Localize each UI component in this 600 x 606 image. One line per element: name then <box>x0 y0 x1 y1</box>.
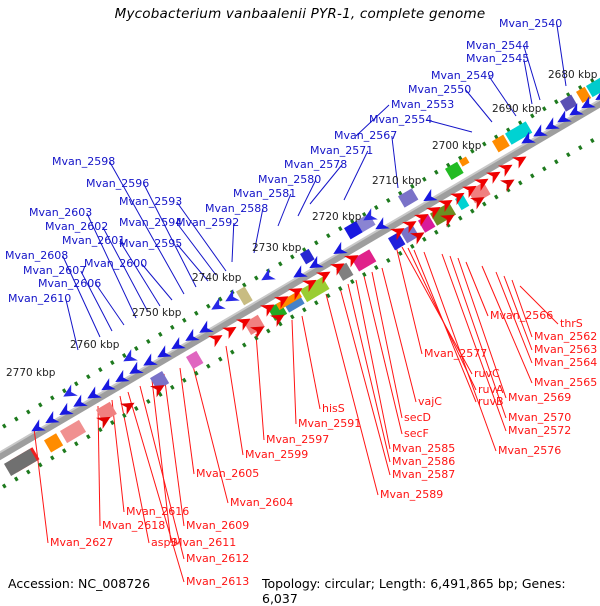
label-leader-line <box>128 392 184 582</box>
gene-label[interactable]: Mvan_2587 <box>392 469 455 480</box>
gene-label[interactable]: Mvan_2611 <box>173 537 236 548</box>
gene-label[interactable]: Mvan_2576 <box>498 445 561 456</box>
label-leader-line <box>34 428 48 543</box>
scale-tick-mark <box>542 106 547 111</box>
scale-tick-mark <box>470 209 475 214</box>
scale-tick-mark <box>194 311 199 316</box>
gene-label[interactable]: Mvan_2600 <box>84 258 147 269</box>
scale-tick-mark <box>338 226 343 231</box>
scale-tick-mark <box>122 353 127 358</box>
scale-tick-mark <box>458 216 463 221</box>
gene-feature-box[interactable] <box>44 433 63 452</box>
gene-label[interactable]: Mvan_2593 <box>119 196 182 207</box>
scale-tick-mark <box>2 424 7 429</box>
gene-label[interactable]: Mvan_2586 <box>392 456 455 467</box>
gene-label[interactable]: secD <box>404 412 431 423</box>
scale-tick-mark <box>146 339 151 344</box>
label-leader-line <box>524 59 532 104</box>
scale-tick-mark <box>134 346 139 351</box>
gene-label[interactable]: Mvan_2565 <box>534 377 597 388</box>
scale-tick-label: 2680 kbp <box>548 70 597 80</box>
gene-label[interactable]: Mvan_2608 <box>5 250 68 261</box>
gene-label[interactable]: Mvan_2599 <box>245 449 308 460</box>
scale-tick-mark <box>14 477 19 482</box>
label-leader-line <box>164 374 184 526</box>
scale-tick-mark <box>314 240 319 245</box>
scale-tick-mark <box>290 314 295 319</box>
scale-tick-label: 2740 kbp <box>192 273 241 283</box>
gene-label[interactable]: Mvan_2596 <box>86 178 149 189</box>
scale-tick-label: 2730 kbp <box>252 243 301 253</box>
scale-tick-mark <box>290 254 295 259</box>
label-leader-line <box>292 320 296 424</box>
label-leader-line <box>112 400 124 512</box>
genome-map-canvas <box>0 0 600 600</box>
scale-tick-mark <box>554 159 559 164</box>
scale-tick-mark <box>230 350 235 355</box>
gene-label[interactable]: Mvan_2567 <box>334 130 397 141</box>
gene-label[interactable]: Mvan_2609 <box>186 520 249 531</box>
scale-tick-mark <box>74 381 79 386</box>
label-leader-line <box>256 334 264 440</box>
scale-tick-mark <box>434 170 439 175</box>
gene-label[interactable]: Mvan_2601 <box>62 235 125 246</box>
gene-arrow[interactable] <box>208 297 226 315</box>
gene-arrow[interactable] <box>120 349 138 367</box>
gene-label[interactable]: Mvan_2570 <box>508 412 571 423</box>
scale-tick-mark <box>122 413 127 418</box>
scale-tick-mark <box>302 307 307 312</box>
gene-label[interactable]: Mvan_2618 <box>102 520 165 531</box>
gene-label[interactable]: Mvan_2580 <box>258 174 321 185</box>
scale-tick-mark <box>74 441 79 446</box>
label-leader-line <box>98 406 100 526</box>
label-leader-line <box>427 120 472 132</box>
gene-label[interactable]: Mvan_2597 <box>266 434 329 445</box>
scale-tick-mark <box>218 357 223 362</box>
accession-text: Accession: NC_008726 <box>8 576 150 591</box>
gene-label[interactable]: Mvan_2549 <box>431 70 494 81</box>
scale-tick-mark <box>266 328 271 333</box>
gene-label[interactable]: Mvan_2569 <box>508 392 571 403</box>
scale-tick-mark <box>2 484 7 489</box>
scale-tick-mark <box>146 399 151 404</box>
scale-tick-mark <box>62 448 67 453</box>
gene-label[interactable]: ruvA <box>478 384 504 395</box>
scale-tick-mark <box>206 304 211 309</box>
label-leader-line <box>302 316 320 409</box>
scale-tick-label: 2710 kbp <box>372 176 421 186</box>
scale-tick-mark <box>422 237 427 242</box>
gene-arrow[interactable] <box>60 384 78 402</box>
gene-label[interactable]: Mvan_2571 <box>310 145 373 156</box>
gene-label[interactable]: Mvan_2589 <box>380 489 443 500</box>
scale-tick-mark <box>482 142 487 147</box>
gene-label[interactable]: Mvan_2598 <box>52 156 115 167</box>
gene-label[interactable]: Mvan_2592 <box>176 217 239 228</box>
scale-tick-mark <box>566 152 571 157</box>
gene-label[interactable]: Mvan_2627 <box>50 537 113 548</box>
scale-tick-mark <box>326 233 331 238</box>
label-leader-line <box>226 346 243 455</box>
scale-tick-mark <box>170 325 175 330</box>
gene-label[interactable]: Mvan_2577 <box>424 348 487 359</box>
scale-tick-mark <box>86 374 91 379</box>
gene-feature-box[interactable] <box>244 315 265 335</box>
scale-tick-mark <box>26 409 31 414</box>
gene-label[interactable]: vajC <box>418 396 442 407</box>
scale-tick-mark <box>182 378 187 383</box>
scale-tick-mark <box>14 417 19 422</box>
genome-map-viewer: Mycobacterium vanbaalenii PYR-1, complet… <box>0 0 600 600</box>
gene-label[interactable]: Mvan_2544 <box>466 40 529 51</box>
scale-tick-mark <box>590 138 595 143</box>
scale-tick-mark <box>242 343 247 348</box>
scale-tick-label: 2760 kbp <box>70 340 119 350</box>
gene-label[interactable]: Mvan_2594 <box>119 217 182 228</box>
gene-label[interactable]: Mvan_2610 <box>8 293 71 304</box>
scale-tick-mark <box>158 332 163 337</box>
scale-tick-mark <box>350 279 355 284</box>
scale-tick-mark <box>182 318 187 323</box>
scale-tick-label: 2770 kbp <box>6 368 55 378</box>
gene-feature-box[interactable] <box>352 249 376 271</box>
gene-feature-box[interactable] <box>398 188 418 207</box>
scale-tick-mark <box>50 395 55 400</box>
scale-tick-mark <box>530 173 535 178</box>
gene-label[interactable]: Mvan_2602 <box>45 221 108 232</box>
gene-label[interactable]: Mvan_2564 <box>534 357 597 368</box>
gene-feature-box[interactable] <box>186 351 203 369</box>
label-leader-line <box>344 151 368 200</box>
gene-label[interactable]: Mvan_2553 <box>391 99 454 110</box>
topology-text: Topology: circular; Length: 6,491,865 bp… <box>262 576 600 606</box>
scale-tick-mark <box>338 286 343 291</box>
label-leader-line <box>364 276 402 434</box>
gene-label[interactable]: ruvC <box>474 368 500 379</box>
gene-label[interactable]: secF <box>404 428 429 439</box>
gene-label[interactable]: Mvan_2572 <box>508 425 571 436</box>
scale-tick-mark <box>362 272 367 277</box>
gene-label[interactable]: Mvan_2616 <box>126 506 189 517</box>
gene-label[interactable]: Mvan_2566 <box>490 310 553 321</box>
scale-tick-mark <box>26 469 31 474</box>
scale-tick-mark <box>86 434 91 439</box>
label-leader-line <box>382 268 416 402</box>
gene-label[interactable]: Mvan_2540 <box>499 18 562 29</box>
scale-tick-mark <box>254 276 259 281</box>
footer-bar: Accession: NC_008726 Topology: circular;… <box>0 576 600 594</box>
scale-tick-mark <box>554 99 559 104</box>
scale-tick-mark <box>206 364 211 369</box>
gene-label[interactable]: Mvan_2550 <box>408 84 471 95</box>
scale-tick-label: 2700 kbp <box>432 141 481 151</box>
label-leader-line <box>192 362 228 503</box>
gene-label[interactable]: Mvan_2605 <box>196 468 259 479</box>
scale-tick-mark <box>494 195 499 200</box>
label-leader-line <box>466 262 488 316</box>
scale-tick-label: 2690 kbp <box>492 104 541 114</box>
gene-feature-box[interactable] <box>300 249 315 264</box>
gene-label[interactable]: Mvan_2554 <box>369 114 432 125</box>
scale-tick-mark <box>386 258 391 263</box>
scale-tick-mark <box>278 261 283 266</box>
gene-label[interactable]: Mvan_2581 <box>233 188 296 199</box>
scale-tick-mark <box>314 300 319 305</box>
label-leader-line <box>96 284 124 325</box>
scale-tick-mark <box>410 244 415 249</box>
scale-tick-mark <box>134 406 139 411</box>
scale-tick-mark <box>422 177 427 182</box>
gene-label[interactable]: Mvan_2591 <box>298 418 361 429</box>
scale-tick-mark <box>170 385 175 390</box>
scale-tick-mark <box>482 202 487 207</box>
scale-tick-mark <box>374 205 379 210</box>
scale-tick-mark <box>110 360 115 365</box>
gene-feature-box[interactable] <box>60 420 86 443</box>
gene-feature-box[interactable] <box>236 287 253 306</box>
gene-label[interactable]: Mvan_2588 <box>205 203 268 214</box>
scale-tick-mark <box>434 230 439 235</box>
gene-label[interactable]: ruvB <box>478 396 504 407</box>
gene-label[interactable]: aspS <box>151 537 177 548</box>
label-leader-line <box>372 272 402 418</box>
gene-label[interactable]: Mvan_2562 <box>534 331 597 342</box>
label-leader-line <box>348 284 390 462</box>
gene-label[interactable]: Mvan_2604 <box>230 497 293 508</box>
gene-arrow[interactable] <box>120 397 138 415</box>
label-leader-line <box>326 294 378 495</box>
gene-label[interactable]: Mvan_2612 <box>186 553 249 564</box>
scale-tick-mark <box>386 198 391 203</box>
gene-label[interactable]: thrS <box>560 318 583 329</box>
gene-label[interactable]: Mvan_2607 <box>23 265 86 276</box>
gene-label[interactable]: Mvan_2606 <box>38 278 101 289</box>
label-leader-line <box>180 368 194 474</box>
gene-label[interactable]: Mvan_2585 <box>392 443 455 454</box>
scale-tick-mark <box>62 388 67 393</box>
scale-tick-mark <box>98 367 103 372</box>
gene-label[interactable]: Mvan_2595 <box>119 238 182 249</box>
scale-tick-mark <box>50 455 55 460</box>
gene-feature-box[interactable] <box>492 135 510 153</box>
gene-label[interactable]: Mvan_2603 <box>29 207 92 218</box>
gene-label[interactable]: hisS <box>322 403 345 414</box>
scale-tick-mark <box>38 402 43 407</box>
scale-tick-label: 2750 kbp <box>132 308 181 318</box>
scale-tick-label: 2720 kbp <box>312 212 361 222</box>
gene-label[interactable]: Mvan_2563 <box>534 344 597 355</box>
scale-tick-mark <box>578 145 583 150</box>
gene-label[interactable]: Mvan_2578 <box>284 159 347 170</box>
scale-tick-mark <box>518 180 523 185</box>
scale-tick-mark <box>542 166 547 171</box>
scale-tick-mark <box>374 265 379 270</box>
label-leader-line <box>340 288 390 475</box>
gene-label[interactable]: Mvan_2545 <box>466 53 529 64</box>
